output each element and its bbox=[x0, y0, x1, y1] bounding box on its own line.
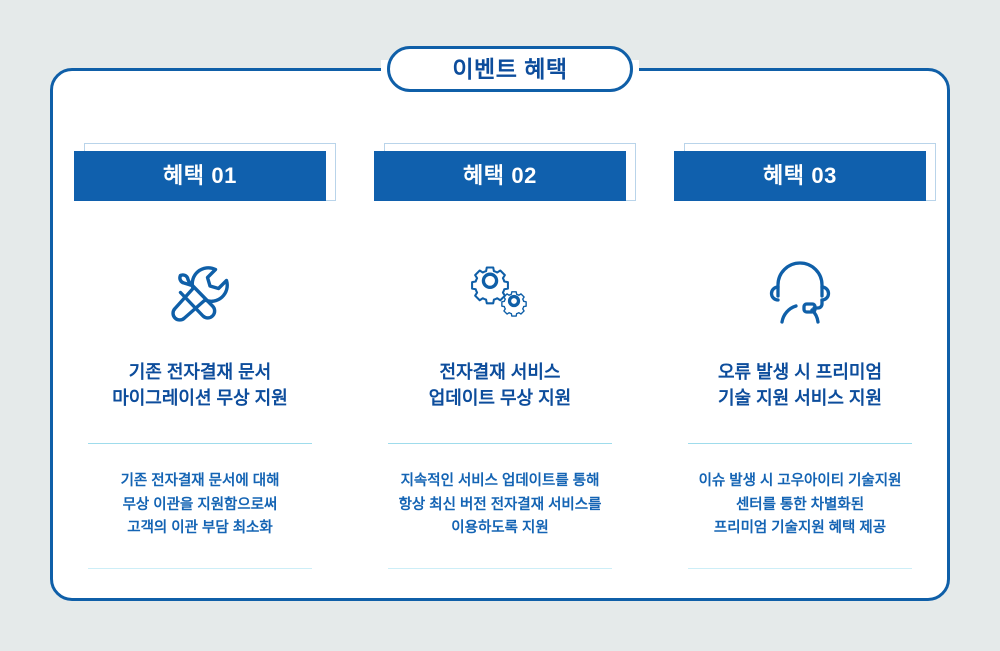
tools-icon bbox=[157, 259, 243, 331]
benefit-body-03: 이슈 발생 시 고우아이티 기술지원 센터를 통한 차별화된 프리미엄 기술지원… bbox=[699, 470, 902, 544]
benefit-body-02: 지속적인 서비스 업데이트를 통해 항상 최신 버전 전자결재 서비스를 이용하… bbox=[399, 470, 602, 544]
page-title: 이벤트 혜택 bbox=[452, 58, 567, 81]
gears-icon bbox=[457, 259, 543, 331]
section-title-badge: 이벤트 혜택 bbox=[387, 46, 633, 92]
headset-support-icon bbox=[757, 259, 843, 331]
benefit-divider-bottom-02 bbox=[388, 568, 612, 569]
benefit-body-01: 기존 전자결재 문서에 대해 무상 이관을 지원함으로써 고객의 이관 부담 최… bbox=[121, 470, 280, 544]
benefit-card-list: 혜택 01 기존 전자결재 문서 마이그레이션 무상 지원 기존 전자결재 문서… bbox=[50, 68, 950, 601]
benefit-divider-top-03 bbox=[688, 443, 912, 444]
benefit-badge-02: 혜택 02 bbox=[374, 151, 626, 201]
benefit-badge-label-03: 혜택 03 bbox=[763, 165, 837, 187]
benefit-badge-wrap-03: 혜택 03 bbox=[674, 151, 926, 209]
benefit-heading-01: 기존 전자결재 문서 마이그레이션 무상 지원 bbox=[112, 359, 288, 411]
benefit-badge-03: 혜택 03 bbox=[674, 151, 926, 201]
benefit-divider-top-01 bbox=[88, 443, 312, 444]
benefit-divider-bottom-01 bbox=[88, 568, 312, 569]
benefit-heading-02: 전자결재 서비스 업데이트 무상 지원 bbox=[429, 359, 571, 411]
event-benefits-infographic: 이벤트 혜택 혜택 01 bbox=[0, 0, 1000, 651]
benefit-card-03: 혜택 03 bbox=[650, 68, 950, 601]
benefit-card-01: 혜택 01 기존 전자결재 문서 마이그레이션 무상 지원 기존 전자결재 문서… bbox=[50, 68, 350, 601]
benefit-badge-01: 혜택 01 bbox=[74, 151, 326, 201]
benefit-divider-top-02 bbox=[388, 443, 612, 444]
benefit-badge-label-01: 혜택 01 bbox=[163, 165, 237, 187]
benefit-badge-label-02: 혜택 02 bbox=[463, 165, 537, 187]
benefit-badge-wrap-02: 혜택 02 bbox=[374, 151, 626, 209]
benefit-divider-bottom-03 bbox=[688, 568, 912, 569]
benefit-heading-03: 오류 발생 시 프리미엄 기술 지원 서비스 지원 bbox=[718, 359, 882, 411]
benefit-badge-wrap-01: 혜택 01 bbox=[74, 151, 326, 209]
benefit-card-02: 혜택 02 전자결재 서비스 업데이트 무상 지원 bbox=[350, 68, 650, 601]
